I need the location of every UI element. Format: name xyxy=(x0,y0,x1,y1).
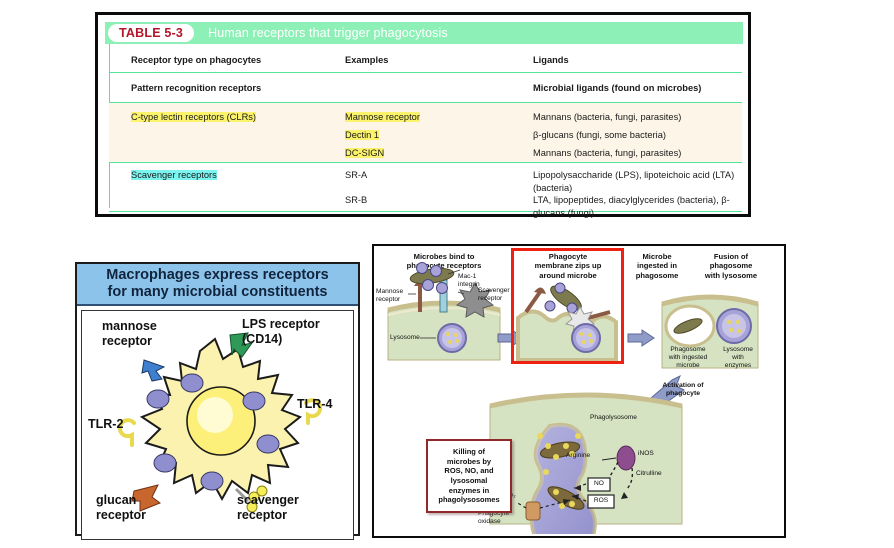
label-citrulline: Citrulline xyxy=(636,470,662,478)
cell-receptor-type: Pattern recognition receptors xyxy=(131,82,331,95)
label-phagolysosome: Phagolysosome xyxy=(590,414,637,422)
cell-ligand: Mannans (bacteria, fungi, parasites) xyxy=(533,147,761,160)
callout-line: ROS, NO, and xyxy=(438,466,499,476)
panel-header: Macrophages express receptors for many m… xyxy=(77,264,358,306)
label-line: Phagosome xyxy=(662,346,714,354)
step-1-cell xyxy=(388,263,500,361)
cell-receptor-type: C-type lectin receptors (CLRs) xyxy=(131,112,256,122)
label-line: scavenger xyxy=(237,493,299,508)
label-lps-receptor: LPS receptor (CD14) xyxy=(242,317,320,346)
label-phagosome-with-microbe: Phagosome with ingested microbe xyxy=(662,346,714,370)
label-line: Scavenger xyxy=(478,287,510,295)
table-title: Human receptors that trigger phagocytosi… xyxy=(208,26,448,40)
step-2-highlight-box xyxy=(511,248,624,364)
label-inos: iNOS xyxy=(638,450,654,458)
label-no: NO xyxy=(593,480,605,488)
label-line: receptor xyxy=(376,296,403,304)
label-mannose-receptor: mannose receptor xyxy=(102,319,157,348)
cell-ligands: Microbial ligands (found on microbes) xyxy=(533,82,761,95)
label-activation-of-phagocyte: Activation of phagocyte xyxy=(652,382,714,398)
label-line: phagocyte xyxy=(652,390,714,398)
table-banner: TABLE 5-3 Human receptors that trigger p… xyxy=(105,22,743,44)
cell-ligand: β-glucans (fungi, some bacteria) xyxy=(533,129,761,142)
label-tlr-4: TLR-4 xyxy=(297,397,332,412)
granule xyxy=(243,392,265,410)
killing-of-microbes-callout: Killing of microbes by ROS, NO, and lyso… xyxy=(426,439,512,513)
label-line: receptor xyxy=(96,508,146,523)
nucleus-highlight xyxy=(197,397,233,433)
column-header-receptor-type: Receptor type on phagocytes xyxy=(131,54,331,67)
label-glucan-receptor: glucan receptor xyxy=(96,493,146,522)
cell-example: Dectin 1 xyxy=(345,130,379,140)
label-scavenger-receptor: Scavenger receptor xyxy=(478,287,510,303)
label-line: receptor xyxy=(237,508,299,523)
phagolysosome-cell xyxy=(490,395,682,534)
label-line: with ingested xyxy=(662,354,714,362)
label-line: with xyxy=(718,354,758,362)
arrow-step-2-to-3 xyxy=(628,330,654,346)
table-number-label: TABLE 5-3 xyxy=(119,26,183,40)
label-line: microbe xyxy=(662,362,714,370)
label-line: LPS receptor xyxy=(242,317,320,332)
callout-line: lysosomal xyxy=(438,476,499,486)
cell-receptor-type: Scavenger receptors xyxy=(131,170,217,180)
granule xyxy=(147,390,169,408)
column-header-examples: Examples xyxy=(345,54,525,67)
label-scavenger-receptor: scavenger receptor xyxy=(237,493,299,522)
callout-line: Killing of xyxy=(438,447,499,457)
label-line: enzymes xyxy=(718,362,758,370)
label-line: receptor xyxy=(102,334,157,349)
label-line: Activation of xyxy=(652,382,714,390)
granule xyxy=(154,454,176,472)
label-lysosome-with-enzymes: Lysosome with enzymes xyxy=(718,346,758,370)
cell-ligand: Lipopolysaccharide (LPS), lipoteichoic a… xyxy=(533,169,761,194)
label-line: Mac-1 xyxy=(458,273,480,281)
label-mannose-receptor: Mannose receptor xyxy=(376,288,403,304)
macrophage-diagram: mannose receptor LPS receptor (CD14) TLR… xyxy=(81,310,354,540)
table-row: C-type lectin receptors (CLRs) Mannose r… xyxy=(109,103,742,163)
granule xyxy=(201,472,223,490)
label-line: Lysosome xyxy=(718,346,758,354)
granule xyxy=(257,435,279,453)
label-line: mannose xyxy=(102,319,157,334)
label-line: Mannose xyxy=(376,288,403,296)
cell-ligand: LTA, lipopeptides, diacylglycerides (bac… xyxy=(533,194,761,219)
mannose-receptor-icon xyxy=(142,360,164,381)
callout-line: microbes by xyxy=(438,457,499,467)
table-row: Pattern recognition receptors Microbial … xyxy=(109,73,742,103)
table-5-3-block: TABLE 5-3 Human receptors that trigger p… xyxy=(95,12,751,217)
granule xyxy=(181,374,203,392)
label-ros: ROS xyxy=(593,497,609,505)
label-lysosome: Lysosome xyxy=(390,334,420,342)
panel-title-line-1: Macrophages express receptors xyxy=(106,267,328,284)
table-row: Scavenger receptors SR-A SR-B Lipopolysa… xyxy=(109,163,742,212)
cell-example: Mannose receptor xyxy=(345,112,420,122)
label-line: oxidase xyxy=(478,518,509,526)
label-line: receptor xyxy=(478,295,510,303)
macrophage-receptors-panel: Macrophages express receptors for many m… xyxy=(75,262,360,536)
label-line: glucan xyxy=(96,493,146,508)
phagocytosis-steps-panel: Microbes bind to phagocyte receptors Pha… xyxy=(372,244,786,538)
label-mac-1-integrin: Mac-1 integrin xyxy=(458,273,480,289)
column-header-ligands: Ligands xyxy=(533,54,761,67)
cell-example: DC-SIGN xyxy=(345,148,384,158)
cell-example: SR-B xyxy=(345,194,525,207)
panel-title-line-2: for many microbial constituents xyxy=(108,284,328,301)
table-header-row: Receptor type on phagocytes Examples Lig… xyxy=(109,46,742,73)
label-arginine: Arginine xyxy=(566,452,590,460)
table-number-pill: TABLE 5-3 xyxy=(108,24,194,42)
callout-line: phagolysosomes xyxy=(438,495,499,505)
cell-ligand: Mannans (bacteria, fungi, parasites) xyxy=(533,111,761,124)
callout-line: enzymes in xyxy=(438,486,499,496)
label-line: (CD14) xyxy=(242,332,320,347)
label-tlr-2: TLR-2 xyxy=(88,417,123,432)
label-line: integrin xyxy=(458,281,480,289)
cell-example: SR-A xyxy=(345,169,525,182)
